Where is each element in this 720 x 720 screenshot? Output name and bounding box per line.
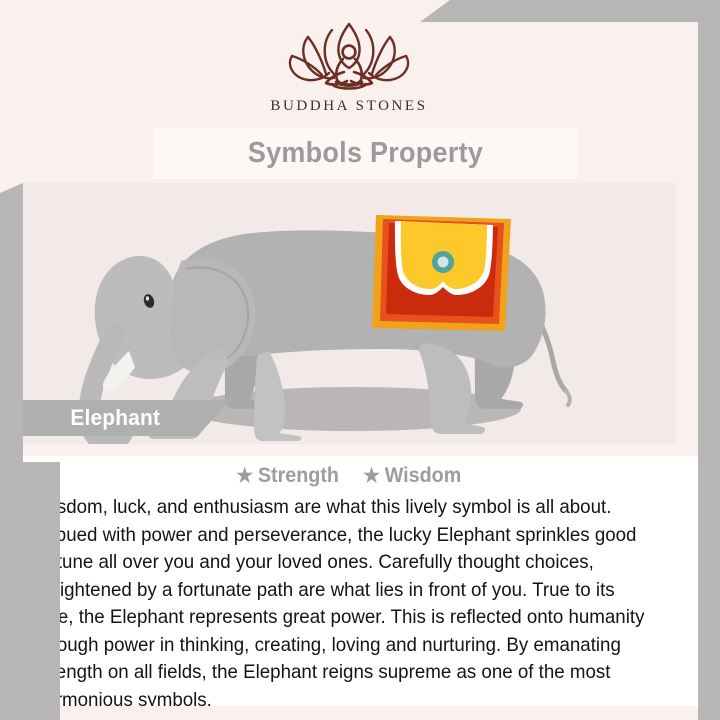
description-text: Wisdom, luck, and enthusiasm are what th…: [35, 494, 646, 714]
symbols-property-infographic: BUDDHA STONES Symbols Property: [0, 0, 720, 720]
symbol-name-label: Elephant: [70, 405, 160, 431]
bottom-tint-strip: [0, 706, 698, 714]
symbol-name-ribbon: Elephant: [0, 400, 230, 436]
star-icon: ★: [364, 466, 381, 486]
attribute-item-strength: ★ Strength: [236, 464, 339, 488]
frame-right-bar: [698, 22, 720, 720]
description-panel: ★ Strength ★ Wisdom Wisdom, luck, and en…: [0, 456, 698, 714]
page-title: Symbols Property: [248, 137, 483, 170]
title-band: Symbols Property: [153, 128, 578, 179]
attribute-label: Strength: [258, 464, 339, 488]
attribute-item-wisdom: ★ Wisdom: [364, 464, 462, 488]
brand-wordmark: BUDDHA STONES: [270, 98, 427, 115]
lotus-meditation-icon: [274, 20, 424, 94]
frame-left-bottom-bar: [0, 462, 60, 720]
frame-top-bar: [420, 0, 720, 22]
saddle: [372, 215, 511, 331]
attribute-list: ★ Strength ★ Wisdom: [0, 456, 698, 488]
attribute-label: Wisdom: [385, 464, 462, 488]
star-icon: ★: [236, 466, 253, 486]
